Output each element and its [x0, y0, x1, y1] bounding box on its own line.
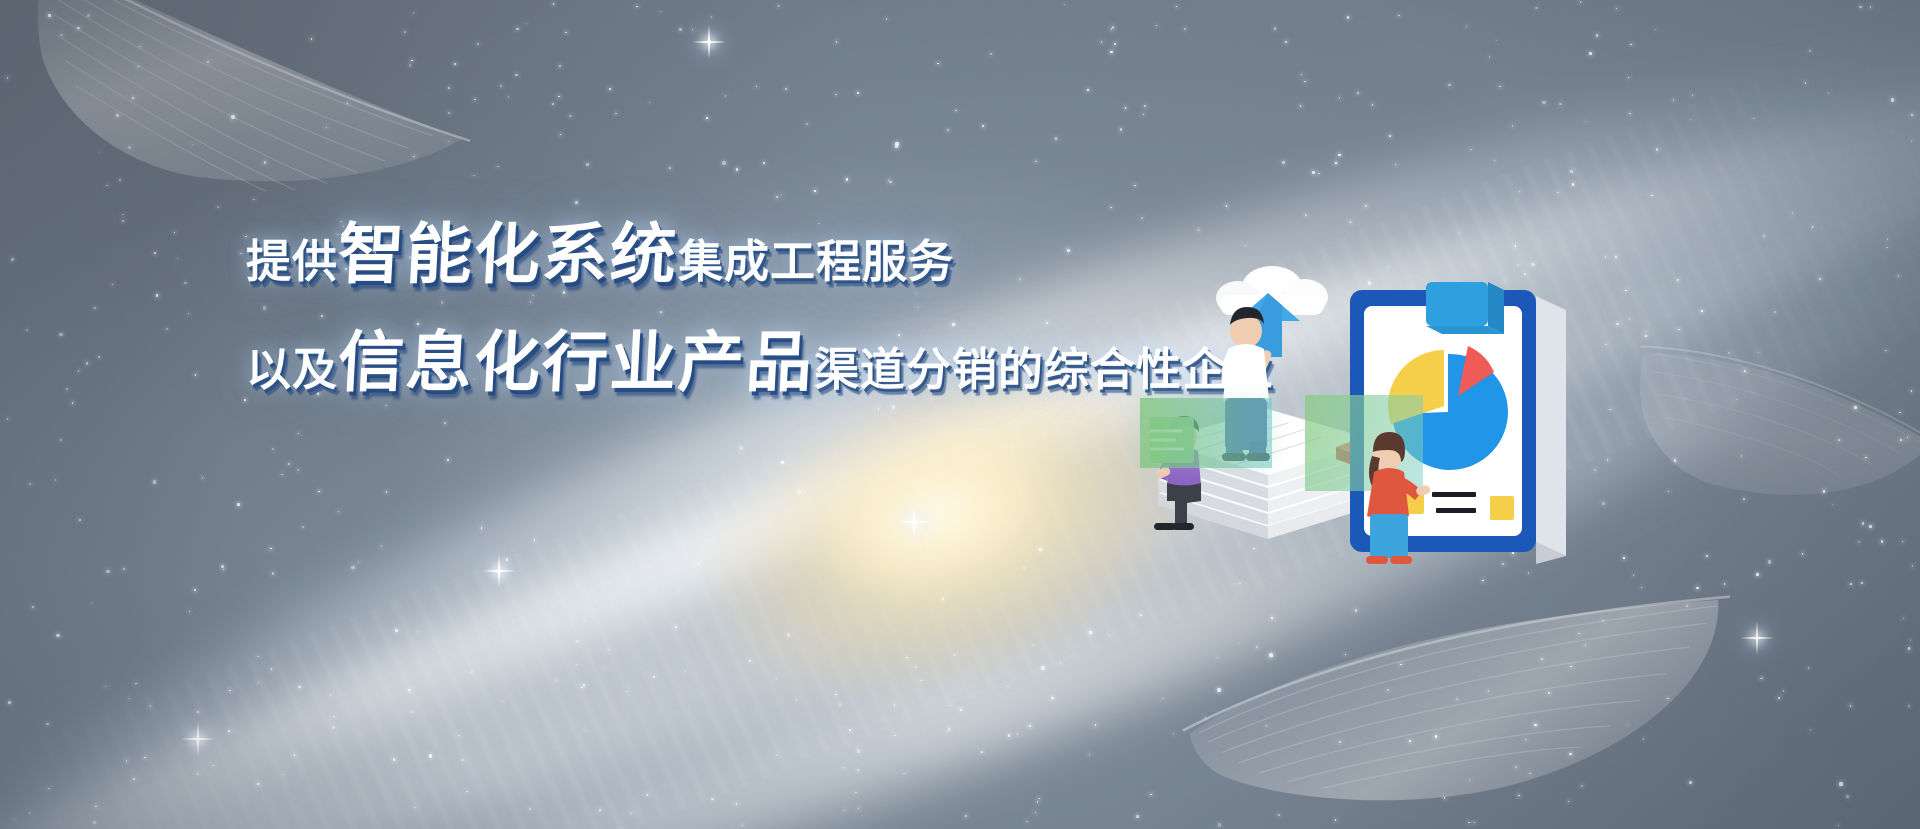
headline-line1-emphasis: 智能化系统 — [336, 222, 679, 288]
feather-bottom-right — [1130, 600, 1820, 829]
woman-presenter — [1348, 430, 1458, 570]
headline-line2-emphasis: 信息化行业产品 — [336, 330, 815, 396]
bright-star — [912, 520, 916, 524]
headline-line-1: 提供智能化系统集成工程服务 — [246, 222, 1306, 288]
headline-line1-prefix: 提供 — [246, 239, 338, 284]
green-glass-panel-left — [1140, 398, 1272, 468]
bright-star — [497, 569, 501, 573]
headline-line2-prefix: 以及 — [246, 347, 338, 392]
bright-star — [707, 40, 711, 44]
bright-star — [196, 737, 200, 741]
headline-line1-suffix: 集成工程服务 — [678, 239, 954, 284]
headline-line-2: 以及信息化行业产品渠道分销的综合性企业 — [246, 330, 1306, 396]
headline-block: 提供智能化系统集成工程服务 以及信息化行业产品渠道分销的综合性企业 — [246, 222, 1306, 396]
feather-mid-right — [1595, 350, 1920, 550]
hero-banner: 提供智能化系统集成工程服务 以及信息化行业产品渠道分销的综合性企业 — [0, 0, 1920, 829]
